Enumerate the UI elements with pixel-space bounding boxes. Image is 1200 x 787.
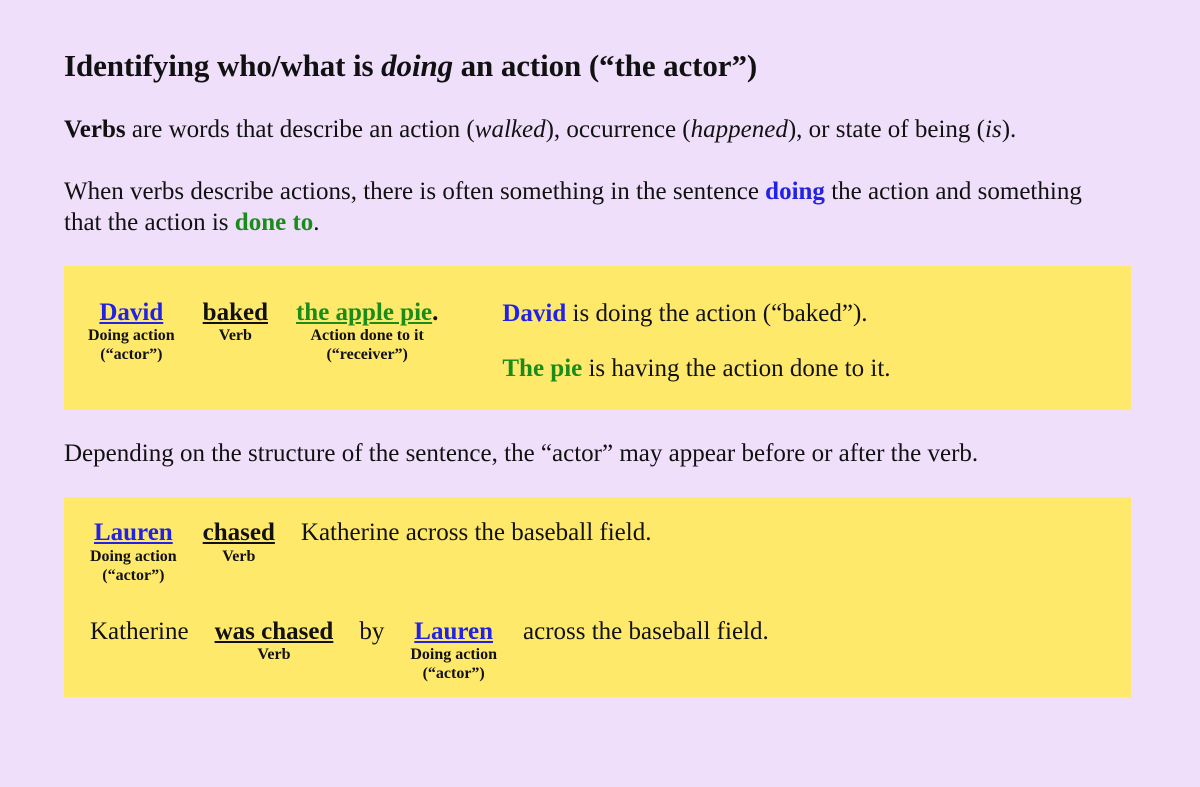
paragraph-doing-doneto: When verbs describe actions, there is of… [64,146,1094,239]
page-title: Identifying who/what is doing an action … [64,0,1136,84]
example-1-explanation-receiver-rest: is having the action done to it. [582,355,890,382]
example-2-row-active-tail: Katherine across the baseball field. [301,519,652,548]
example-1-explanation-actor-rest: is doing the action (“baked”). [566,300,867,327]
paragraph-2-segment-1: When verbs describe actions, there is of… [64,178,765,205]
example-1-slot-receiver: the apple pie. Action done to it (“recei… [296,299,438,366]
example-1-slot-verb: baked Verb [203,299,268,347]
paragraph-2-highlight-doing: doing [765,178,825,205]
example-2-slot-verb-chased: chased Verb [203,519,275,567]
paragraph-1-segment-1: are words that describe an action ( [126,116,475,143]
example-2-slot-by: by [359,618,384,647]
example-1-label-verb-line1: Verb [219,327,252,346]
example-2-label-actor-line2: (“actor”) [102,567,164,586]
paragraph-1-italic-walked: walked [475,116,546,143]
paragraph-verbs-definition: Verbs are words that describe an action … [64,84,1094,146]
paragraph-1-bold-lead: Verbs [64,116,126,143]
title-part-1: Identifying who/what is [64,48,381,83]
example-2-slot-actor-lauren: Lauren Doing action (“actor”) [90,519,177,586]
example-2-label-actor-line1: Doing action [90,548,177,567]
example-1-word-david: David [99,299,163,328]
paragraph-1-segment-3: ), or state of being ( [788,116,985,143]
example-2-slot-actor-lauren-passive: Lauren Doing action (“actor”) [410,618,497,685]
example-1-explanations: David is doing the action (“baked”). The… [438,266,890,384]
example-2-word-chased: chased [203,519,275,548]
example-2-label-was-chased-line1: Verb [257,646,290,665]
paragraph-1-segment-4: ). [1002,116,1017,143]
example-1-label-receiver-line1: Action done to it [311,327,424,346]
slide-root: Identifying who/what is doing an action … [0,0,1200,787]
example-1-label-receiver-line2: (“receiver”) [326,346,407,365]
paragraph-actor-position: Depending on the structure of the senten… [64,410,1094,470]
example-1-slot-actor: David Doing action (“actor”) [88,299,175,366]
example-2-label-actor-passive-line2: (“actor”) [423,665,485,684]
example-2-label-verb-line1: Verb [222,548,255,567]
example-1-explanation-receiver-subject: The pie [502,355,582,382]
example-2-word-lauren: Lauren [94,519,173,548]
example-1-word-baked: baked [203,299,268,328]
example-2-label-actor-passive-line1: Doing action [410,646,497,665]
example-1-explanation-actor: David is doing the action (“baked”). [502,299,890,329]
example-2-slot-verb-was-chased: was chased Verb [215,618,334,666]
example-box-david: David Doing action (“actor”) baked Verb … [64,266,1131,410]
example-2-word-was-chased: was chased [215,618,334,647]
example-2-word-katherine: Katherine [90,618,189,647]
example-2-slot-katherine: Katherine [90,618,189,647]
example-1-label-actor-line1: Doing action [88,327,175,346]
example-box-lauren: Lauren Doing action (“actor”) chased Ver… [64,497,1131,697]
paragraph-2-highlight-done-to: done to [235,209,313,236]
paragraph-1-italic-happened: happened [691,116,788,143]
paragraph-1-segment-2: ), occurrence ( [546,116,691,143]
paragraph-1-italic-is: is [985,116,1002,143]
example-2-word-by: by [359,618,384,647]
example-2-row-passive-tail: across the baseball field. [523,618,769,647]
example-1-sentence: David Doing action (“actor”) baked Verb … [64,266,438,366]
example-2-word-lauren-passive: Lauren [414,618,493,647]
example-2-row-active: Lauren Doing action (“actor”) chased Ver… [64,519,1131,586]
title-part-2: an action (“the actor”) [453,48,757,83]
example-2-row-passive: Katherine was chased Verb by Lauren Doin… [64,618,1131,685]
example-1-word-apple-pie: the apple pie. [296,299,438,328]
example-1-label-actor-line2: (“actor”) [100,346,162,365]
example-1-explanation-receiver: The pie is having the action done to it. [502,354,890,384]
example-1-explanation-actor-subject: David [502,300,566,327]
paragraph-2-segment-3: . [313,209,319,236]
title-emphasis: doing [381,48,453,83]
